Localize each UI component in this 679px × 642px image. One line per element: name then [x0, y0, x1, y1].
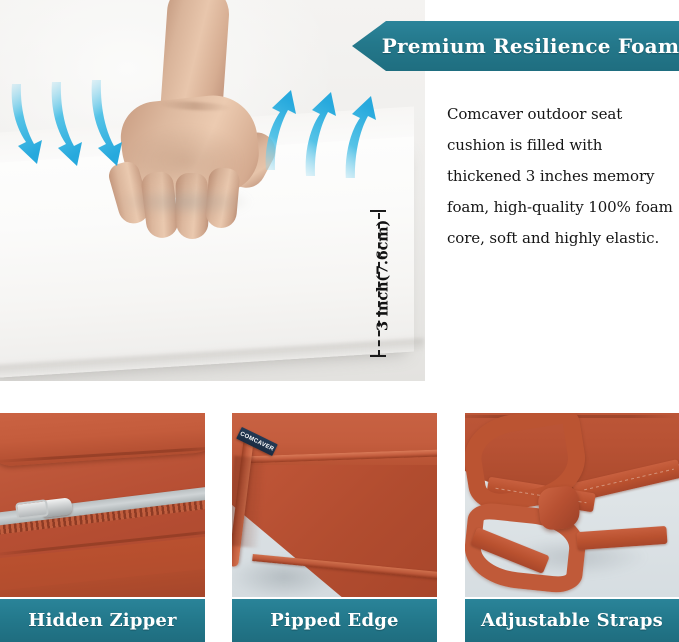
- measure-cap-bottom: [370, 355, 386, 357]
- panel-caption: Pipped Edge: [232, 599, 437, 642]
- premium-resilience-foam-banner: Premium Resilience Foam: [352, 21, 679, 71]
- measurement-label: 3 inch(7.6cm): [375, 201, 392, 351]
- strap-knot: [537, 485, 581, 531]
- hand-cast-shadow: [108, 186, 278, 226]
- panel-caption: Hidden Zipper: [0, 599, 205, 642]
- thickness-measurement: 3 inch(7.6cm): [346, 205, 392, 365]
- curved-arrow-down-icon: [4, 80, 134, 180]
- zipper-icon: [0, 413, 205, 597]
- cushion-corner-icon: COMCAVER: [232, 413, 437, 597]
- banner-title: Premium Resilience Foam: [392, 21, 669, 71]
- tied-strap-bow-icon: [465, 413, 679, 597]
- product-description: Comcaver outdoor seat cushion is filled …: [447, 99, 673, 254]
- panel-caption: Adjustable Straps: [465, 599, 679, 642]
- feature-panel-hidden-zipper: Hidden Zipper: [0, 413, 205, 642]
- feature-panel-adjustable-straps: Adjustable Straps: [465, 413, 679, 642]
- top-feature-section: 3 inch(7.6cm) Premium Resilience Foam Co…: [0, 0, 679, 385]
- feature-panel-pipped-edge: COMCAVER Pipped Edge: [232, 413, 437, 642]
- curved-arrow-up-icon: [258, 78, 388, 178]
